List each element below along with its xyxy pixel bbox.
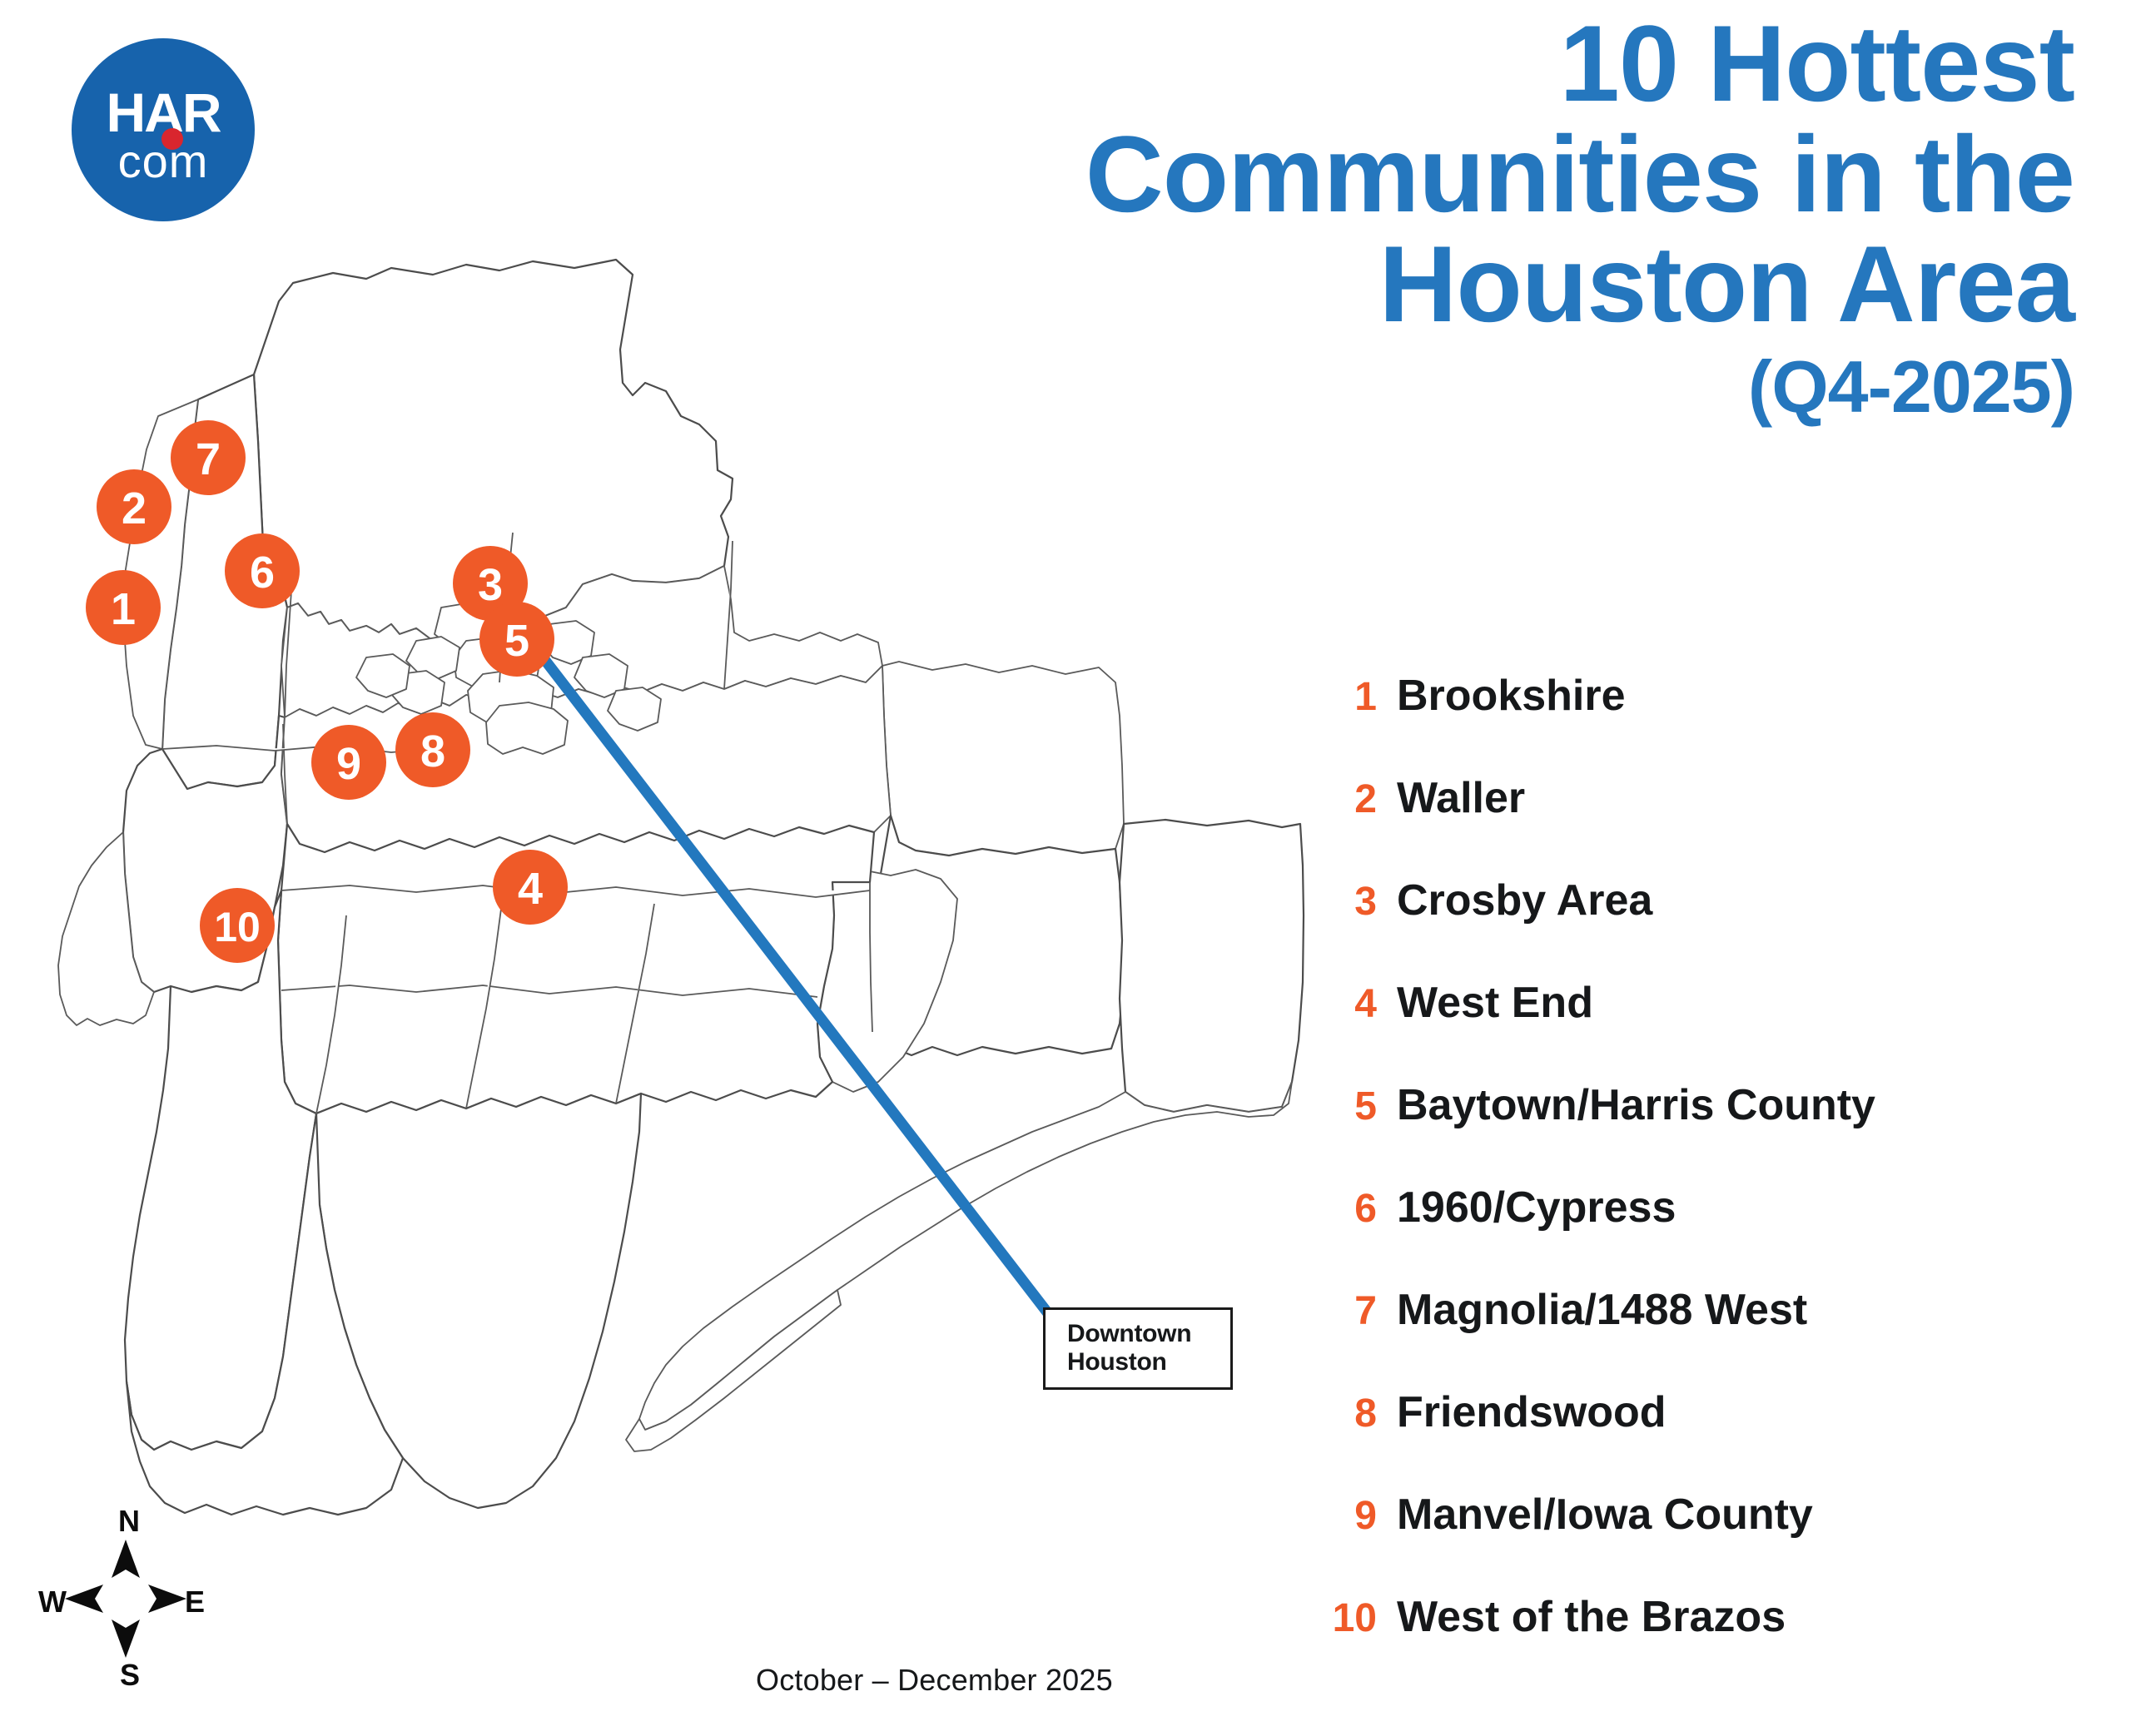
legend-label-7: Magnolia/1488 West <box>1397 1288 1807 1332</box>
legend-label-3: Crosby Area <box>1397 879 1652 922</box>
downtown-houston-callout: Downtown Houston <box>1043 1307 1233 1390</box>
map-marker-5-label: 5 <box>504 616 529 666</box>
legend-rank-9: 9 <box>1332 1496 1397 1536</box>
legend-item-5[interactable]: 5 Baytown/Harris County <box>1332 1084 2081 1186</box>
compass-label-north: N <box>118 1506 140 1536</box>
legend-label-5: Baytown/Harris County <box>1397 1084 1875 1127</box>
legend-item-6[interactable]: 6 1960/Cypress <box>1332 1186 2081 1288</box>
legend-rank-3: 3 <box>1332 882 1397 922</box>
callout-line-2: Houston <box>1067 1348 1209 1376</box>
map-marker-8[interactable]: 8 <box>395 712 470 787</box>
community-legend-list: 1 Brookshire 2 Waller 3 Crosby Area 4 We… <box>1332 674 2081 1698</box>
legend-label-2: Waller <box>1397 776 1525 820</box>
legend-label-4: West End <box>1397 981 1593 1024</box>
title-line-2: Communities in the <box>643 119 2074 230</box>
map-marker-3-label: 3 <box>478 560 503 610</box>
legend-item-1[interactable]: 1 Brookshire <box>1332 674 2081 776</box>
legend-item-2[interactable]: 2 Waller <box>1332 776 2081 879</box>
legend-label-1: Brookshire <box>1397 674 1626 717</box>
legend-item-3[interactable]: 3 Crosby Area <box>1332 879 2081 981</box>
legend-item-7[interactable]: 7 Magnolia/1488 West <box>1332 1288 2081 1391</box>
callout-line-1: Downtown <box>1067 1320 1209 1348</box>
logo-com-text: com <box>72 138 255 185</box>
map-marker-10[interactable]: 10 <box>200 888 275 963</box>
legend-rank-7: 7 <box>1332 1292 1397 1332</box>
legend-rank-2: 2 <box>1332 780 1397 820</box>
map-marker-6-label: 6 <box>250 548 275 598</box>
legend-label-6: 1960/Cypress <box>1397 1186 1676 1229</box>
map-marker-7-label: 7 <box>196 434 221 484</box>
map-marker-7[interactable]: 7 <box>171 420 246 495</box>
map-marker-6[interactable]: 6 <box>225 533 300 608</box>
legend-rank-10: 10 <box>1332 1599 1397 1639</box>
compass-label-east: E <box>185 1587 205 1617</box>
map-marker-9[interactable]: 9 <box>311 725 386 800</box>
legend-item-10[interactable]: 10 West of the Brazos <box>1332 1595 2081 1698</box>
legend-item-4[interactable]: 4 West End <box>1332 981 2081 1084</box>
har-logo: HAR com <box>72 38 255 221</box>
legend-label-9: Manvel/Iowa County <box>1397 1493 1813 1536</box>
map-marker-4-label: 4 <box>518 864 543 914</box>
legend-item-9[interactable]: 9 Manvel/Iowa County <box>1332 1493 2081 1595</box>
map-marker-1[interactable]: 1 <box>86 570 161 645</box>
compass-rose: N S W E <box>38 1506 213 1689</box>
map-marker-8-label: 8 <box>420 727 445 776</box>
legend-rank-1: 1 <box>1332 677 1397 717</box>
legend-label-10: West of the Brazos <box>1397 1595 1786 1639</box>
legend-rank-8: 8 <box>1332 1394 1397 1434</box>
legend-rank-4: 4 <box>1332 985 1397 1024</box>
map-marker-2[interactable]: 2 <box>97 469 171 544</box>
footer-date-range: October – December 2025 <box>756 1663 1113 1698</box>
compass-label-south: S <box>120 1660 140 1690</box>
legend-label-8: Friendswood <box>1397 1391 1667 1434</box>
map-marker-2-label: 2 <box>122 484 147 533</box>
map-marker-1-label: 1 <box>111 584 136 634</box>
map-marker-10-label: 10 <box>214 904 261 950</box>
map-marker-9-label: 9 <box>336 739 361 789</box>
compass-label-west: W <box>38 1587 67 1617</box>
legend-rank-6: 6 <box>1332 1189 1397 1229</box>
map-marker-4[interactable]: 4 <box>493 850 568 925</box>
legend-rank-5: 5 <box>1332 1087 1397 1127</box>
title-line-1: 10 Hottest <box>643 8 2074 119</box>
map-marker-5[interactable]: 5 <box>479 602 554 677</box>
legend-item-8[interactable]: 8 Friendswood <box>1332 1391 2081 1493</box>
